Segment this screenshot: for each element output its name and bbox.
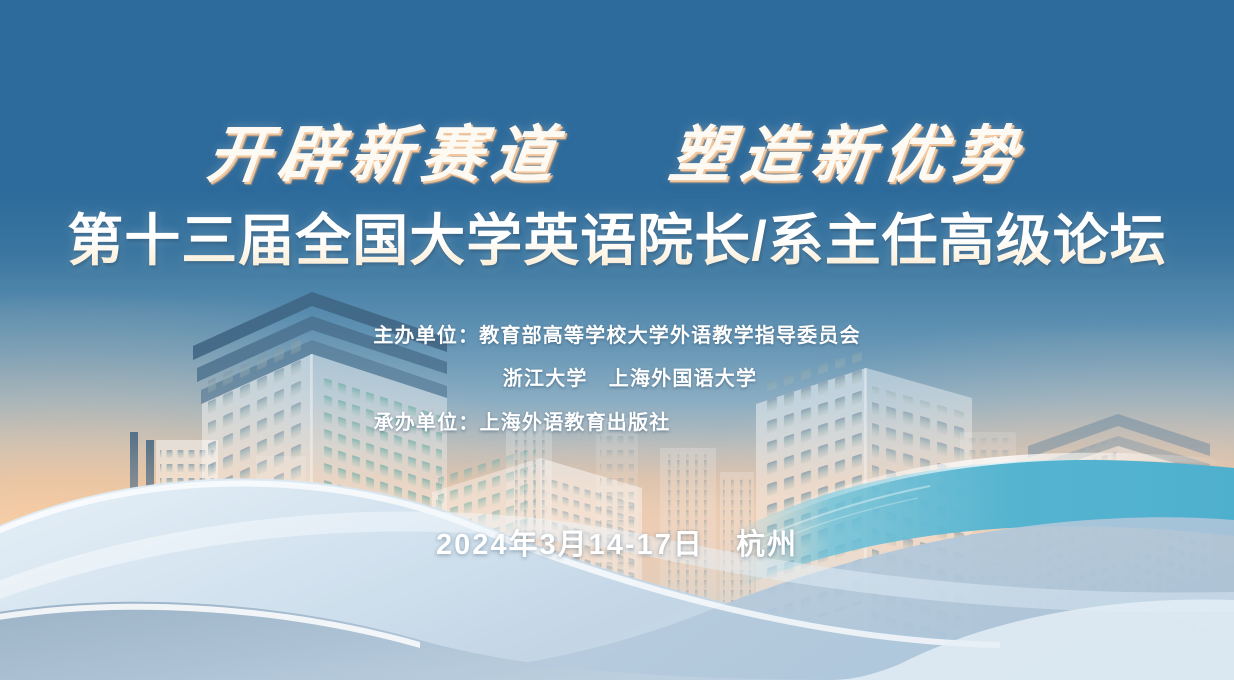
event-date-location: 2024年3月14-17日 杭州 xyxy=(0,521,1234,563)
poster-text-content: 开辟新赛道 塑造新优势 第十三届全国大学英语院长/系主任高级论坛 主办单位：教育… xyxy=(0,0,1234,680)
event-city: 杭州 xyxy=(736,529,798,561)
undertaker-organization-line: 承办单位：上海外语教育出版社 xyxy=(0,413,1234,433)
conference-poster: 开辟新赛道 塑造新优势 第十三届全国大学英语院长/系主任高级论坛 主办单位：教育… xyxy=(0,0,1234,680)
event-date: 2024年3月14-17日 xyxy=(436,529,704,561)
page-title: 第十三届全国大学英语院长/系主任高级论坛 xyxy=(0,196,1234,277)
slogan-part-1: 开辟新赛道 xyxy=(203,118,567,191)
slogan-part-2: 塑造新优势 xyxy=(665,118,1029,191)
organizer-block: 主办单位：教育部高等学校大学外语教学指导委员会 浙江大学 上海外国语大学 承办单… xyxy=(0,326,1234,433)
host-universities-line: 浙江大学 上海外国语大学 xyxy=(0,369,1234,389)
host-organization-line: 主办单位：教育部高等学校大学外语教学指导委员会 xyxy=(0,326,1234,346)
slogan-calligraphy: 开辟新赛道 塑造新优势 xyxy=(0,104,1234,194)
